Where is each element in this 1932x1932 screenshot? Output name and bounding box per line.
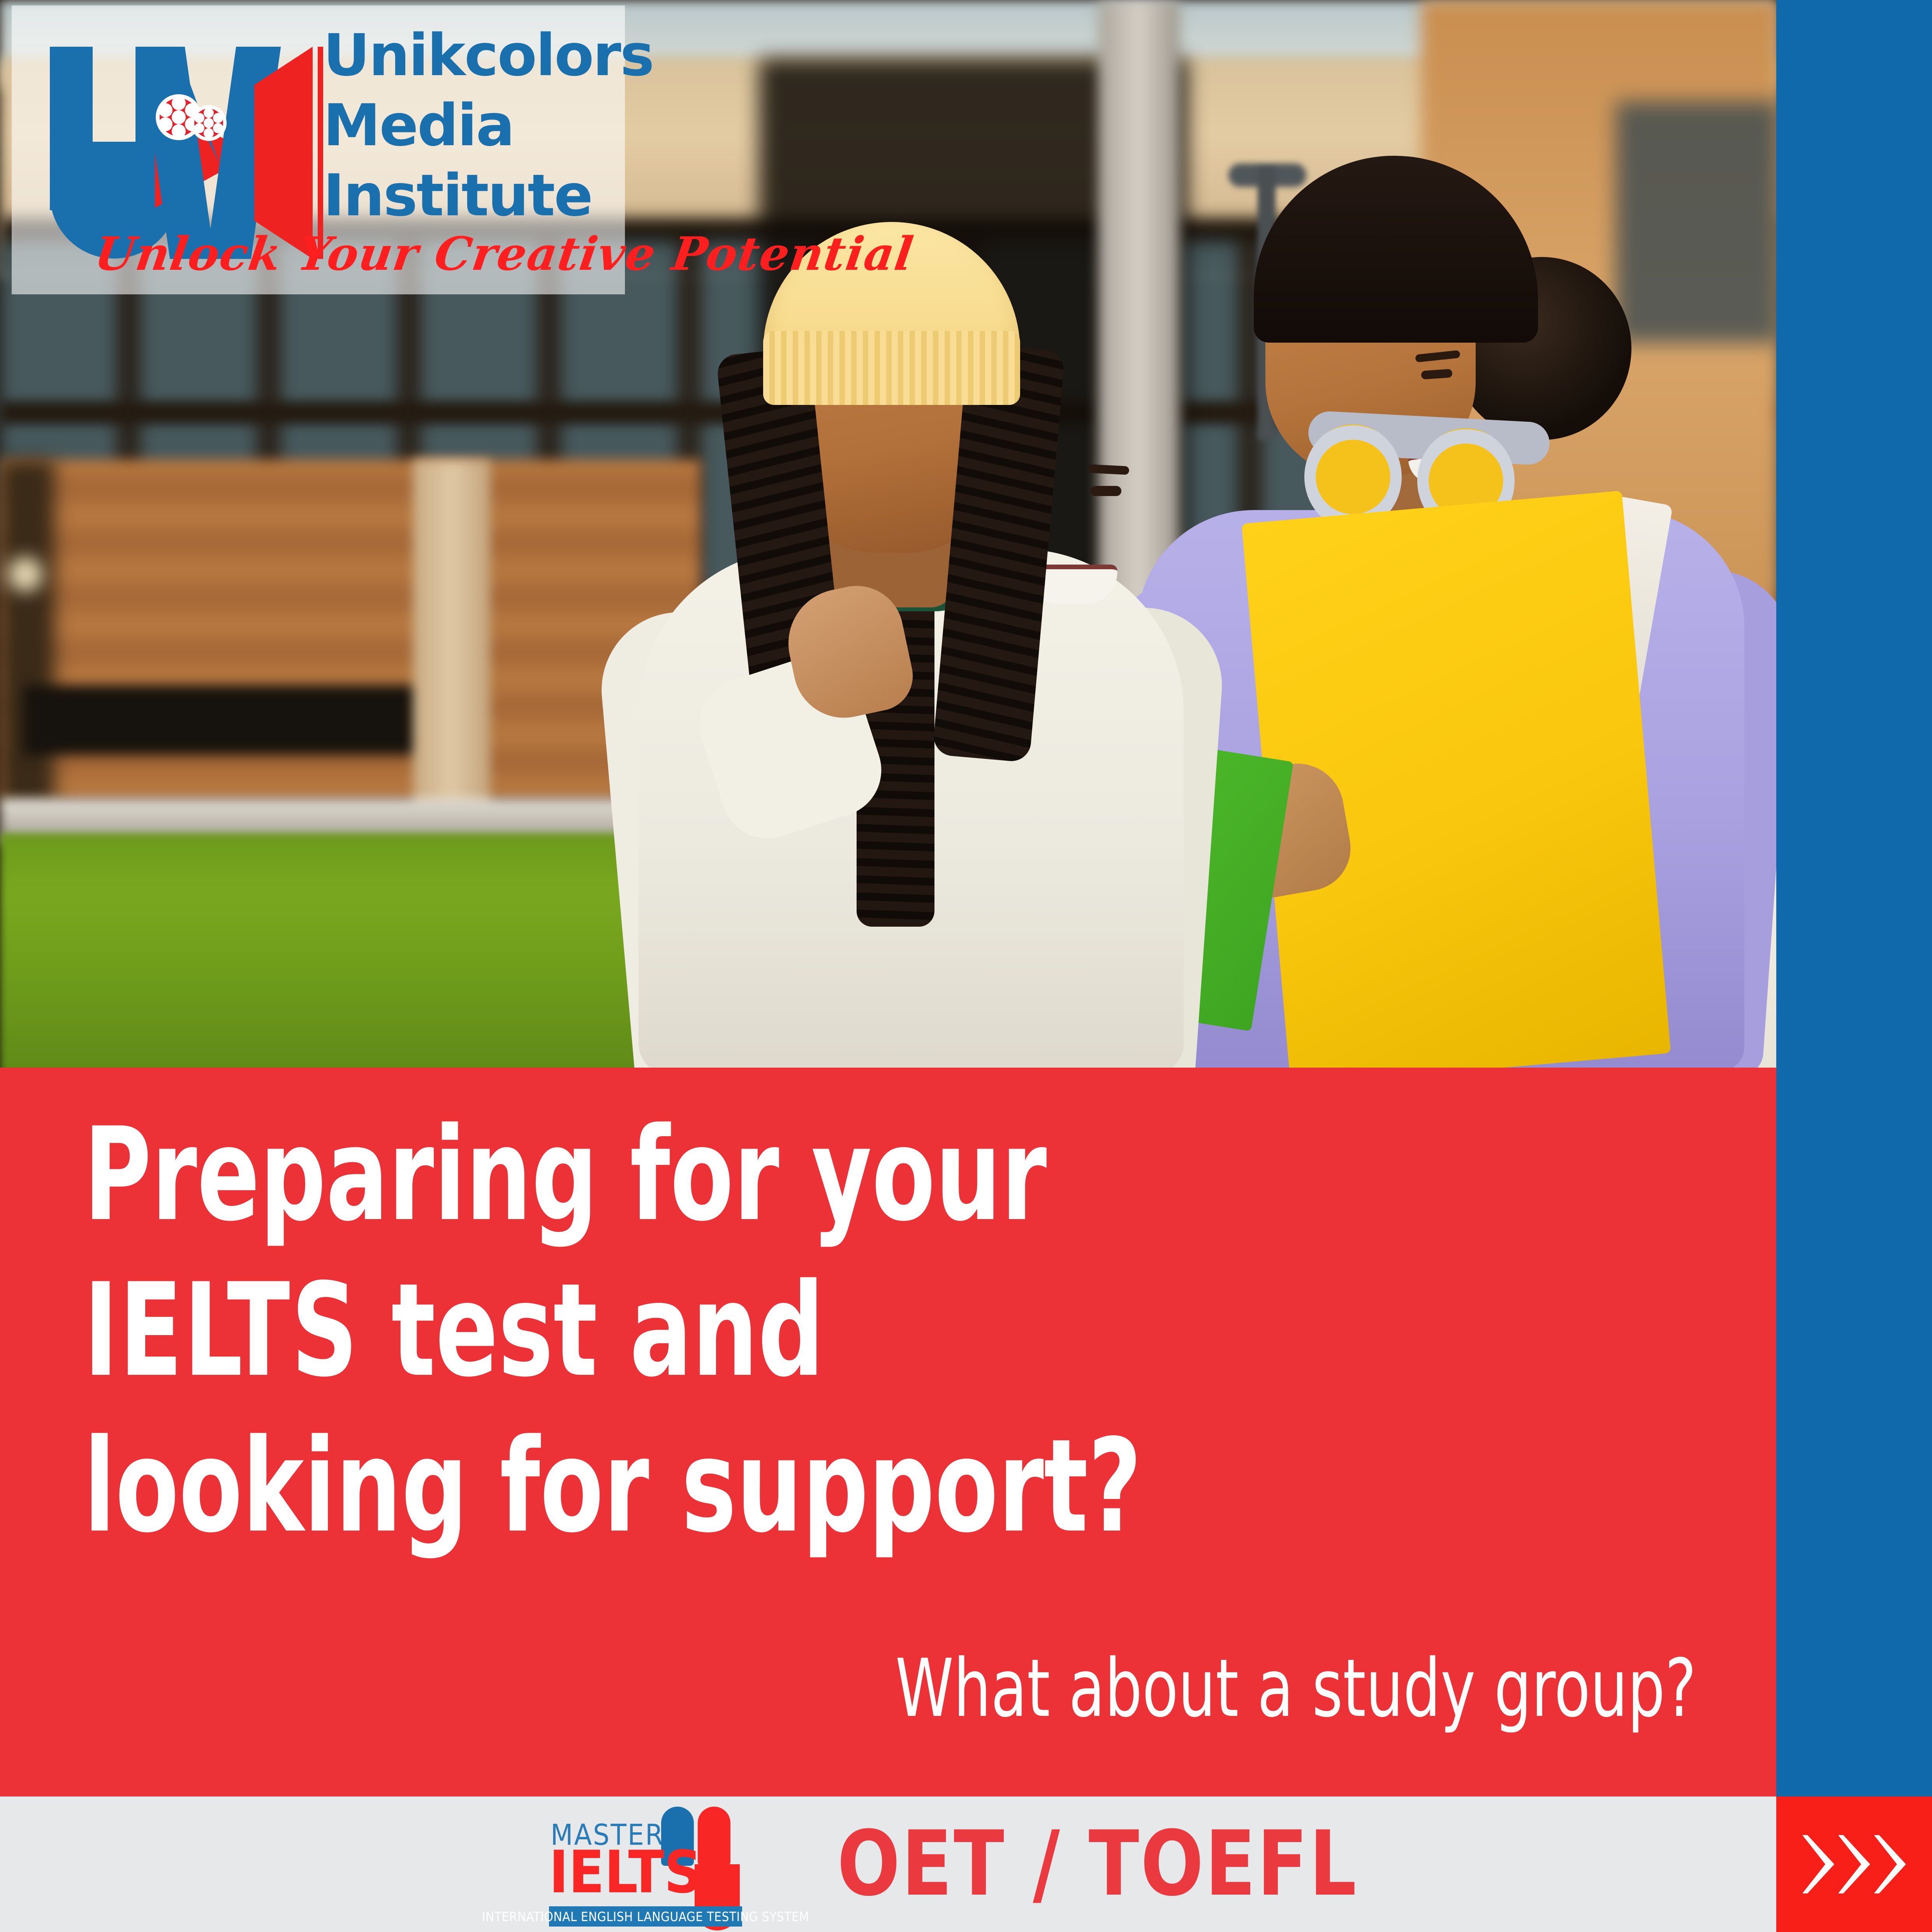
next-slide-button[interactable]	[1776, 1797, 1932, 1932]
bokeh-light-left	[8, 557, 43, 592]
right-blue-stripe	[1776, 0, 1932, 1797]
student-right-hair	[1254, 156, 1538, 343]
brand-tagline: Unlock Your Creative Potential	[91, 227, 917, 281]
yellow-beanie-cuff	[763, 331, 1020, 405]
footer-bar: MASTER IELTS INTERNATIONAL ENGLISH LANGU…	[0, 1797, 1776, 1932]
headline-line-2: IELTS test and	[84, 1253, 1361, 1408]
brand-logo-box[interactable]: Unikcolors Media Institute Unlock Your C…	[12, 5, 625, 294]
headline-text: Preparing for your IELTS test and lookin…	[84, 1097, 1361, 1564]
headline-line-2-rest: test and	[359, 1256, 824, 1405]
student-left-eye-right	[1090, 486, 1121, 496]
headline-banner: Preparing for your IELTS test and lookin…	[0, 1068, 1776, 1797]
student-left	[607, 164, 1238, 1068]
student-right-eye	[1421, 369, 1452, 380]
headline-line-3: looking for support?	[84, 1408, 1361, 1564]
headline-ielts-word: IELTS	[84, 1256, 359, 1405]
film-reel-icon-small	[191, 105, 227, 141]
master-ielts-strapline: INTERNATIONAL ENGLISH LANGUAGE TESTING S…	[549, 1906, 742, 1927]
brand-name-line-3: Institute	[323, 160, 619, 231]
student-right-eyebrow	[1415, 350, 1460, 362]
subheadline-text: What about a study group?	[896, 1644, 1696, 1733]
chevron-right-icon	[1838, 1835, 1870, 1893]
pillar-left	[413, 459, 491, 810]
headline-line-1: Preparing for your	[84, 1097, 1361, 1253]
exams-label: OET / TOEFL	[837, 1819, 1358, 1909]
leaf-red-icon	[698, 1807, 730, 1866]
poster-canvas: Unikcolors Media Institute Unlock Your C…	[0, 0, 1932, 1932]
master-ielts-main-word: IELTS	[549, 1843, 702, 1902]
chevron-right-icon	[1874, 1835, 1906, 1893]
master-ielts-logo[interactable]: MASTER IELTS INTERNATIONAL ENGLISH LANGU…	[537, 1806, 775, 1923]
student-left-eyebrow-right	[1088, 464, 1129, 475]
subheadline: What about a study group?	[0, 1644, 1696, 1733]
brand-name-line-1: Unikcolors	[323, 20, 619, 90]
brand-name: Unikcolors Media Institute	[323, 20, 619, 231]
brand-name-line-2: Media	[323, 90, 619, 160]
dark-window-left	[23, 685, 432, 755]
um-monogram-icon	[38, 29, 303, 247]
chevron-right-icon	[1802, 1835, 1834, 1893]
shadow-left	[0, 459, 55, 810]
